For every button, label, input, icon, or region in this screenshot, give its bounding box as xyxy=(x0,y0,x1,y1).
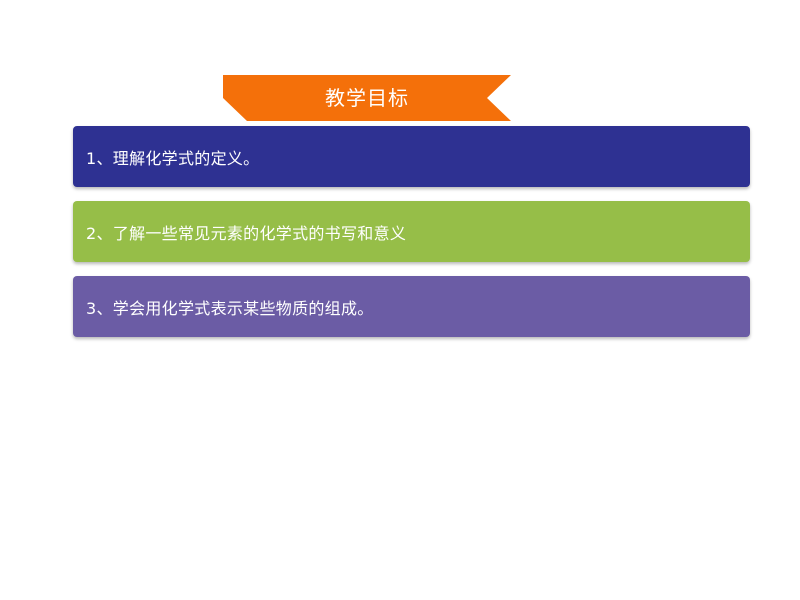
goal-item-1: 1、理解化学式的定义。 xyxy=(73,126,750,187)
goal-item-3-label: 3、学会用化学式表示某些物质的组成。 xyxy=(73,295,374,319)
goal-item-3: 3、学会用化学式表示某些物质的组成。 xyxy=(73,276,750,337)
goals-list: 1、理解化学式的定义。 2、了解一些常见元素的化学式的书写和意义 3、学会用化学… xyxy=(73,126,750,351)
goal-item-2-label: 2、了解一些常见元素的化学式的书写和意义 xyxy=(73,220,406,244)
goal-item-1-label: 1、理解化学式的定义。 xyxy=(73,145,259,169)
goal-item-2: 2、了解一些常见元素的化学式的书写和意义 xyxy=(73,201,750,262)
slide-canvas: 教学目标 1、理解化学式的定义。 2、了解一些常见元素的化学式的书写和意义 3、… xyxy=(0,0,800,600)
banner-title: 教学目标 xyxy=(223,75,511,121)
section-banner: 教学目标 xyxy=(223,75,511,121)
